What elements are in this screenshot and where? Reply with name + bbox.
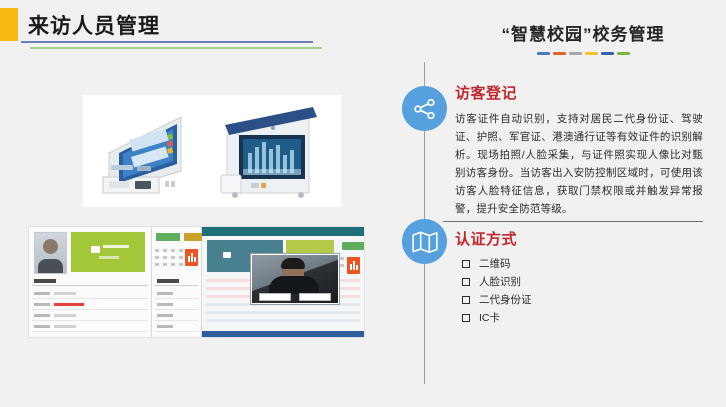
chart-icon (185, 249, 198, 266)
status-bar (202, 331, 364, 337)
list-item-label: 二维码 (479, 256, 511, 272)
screenshot-pane-mid (152, 227, 202, 337)
capture-sublabel (99, 256, 119, 259)
screenshot-pane-right (202, 227, 364, 337)
section-header (32, 277, 148, 286)
form-row (155, 311, 198, 321)
section-heading: 认证方式 (455, 228, 703, 249)
list-item: 人脸识别 (462, 274, 703, 290)
kiosk-photo (83, 95, 341, 207)
form-row (32, 289, 148, 299)
list-item-label: IC卡 (479, 310, 500, 326)
dash-navy (601, 52, 614, 55)
dash-row (440, 52, 726, 55)
capture-label (103, 245, 129, 248)
capture-panel (71, 232, 145, 272)
right-header-title: “智慧校园”校务管理 (440, 20, 726, 45)
dash-green (617, 52, 630, 55)
section-visitor-registration: 访客登记 访客证件自动识别，支持对居民二代身份证、驾驶证、护照、军官证、港澳通行… (455, 82, 703, 218)
title-underline-green (30, 47, 322, 49)
checkbox-square-icon (462, 260, 470, 268)
section-heading: 访客登记 (455, 82, 703, 103)
form-row (155, 322, 198, 332)
section-authentication-methods: 认证方式 二维码人脸识别二代身份证IC卡 (455, 228, 703, 328)
checkbox-square-icon (462, 314, 470, 322)
dialog-cancel-button[interactable] (299, 293, 331, 301)
dialog-confirm-button[interactable] (259, 293, 291, 301)
slide-title-block: 来访人员管理 (0, 8, 160, 41)
dash-yellow (585, 52, 598, 55)
calendar-grid (155, 249, 185, 267)
section-body: 访客证件自动识别，支持对居民二代身份证、驾驶证、护照、军官证、港澳通行证等有效证… (455, 110, 703, 218)
map-icon (402, 219, 447, 264)
confirm-button[interactable] (342, 242, 365, 250)
face-capture-dialog (250, 253, 340, 305)
camera-icon (91, 246, 100, 253)
kiosk-terminal-right-icon (213, 101, 331, 201)
title-underline-blue (21, 41, 313, 43)
share-nodes-icon (402, 86, 447, 131)
dash-gray (569, 52, 582, 55)
form-row (155, 289, 198, 299)
list-item-label: 人脸识别 (479, 274, 521, 290)
authentication-method-list: 二维码人脸识别二代身份证IC卡 (455, 256, 703, 326)
form-row (32, 300, 148, 310)
title-accent-bar (0, 8, 18, 41)
list-item: 二维码 (462, 256, 703, 272)
section-header (155, 277, 198, 286)
form-row (32, 322, 148, 332)
section-divider (443, 221, 703, 222)
page-title: 来访人员管理 (28, 10, 160, 40)
visitor-id-photo (34, 232, 67, 274)
app-title-bar (202, 227, 364, 236)
chart-icon (347, 257, 360, 274)
form-row (32, 311, 148, 321)
checkbox-square-icon (462, 296, 470, 304)
list-item: IC卡 (462, 310, 703, 326)
dash-blue (537, 52, 550, 55)
software-screenshot (28, 226, 365, 338)
form-row (155, 300, 198, 310)
confirm-button[interactable] (156, 233, 180, 241)
dash-orange (553, 52, 566, 55)
screenshot-pane-left (29, 227, 152, 337)
kiosk-terminal-left-icon (89, 101, 201, 201)
right-header: “智慧校园”校务管理 (440, 20, 726, 55)
camera-icon (223, 252, 231, 258)
checkbox-square-icon (462, 278, 470, 286)
list-item: 二代身份证 (462, 292, 703, 308)
list-item-label: 二代身份证 (479, 292, 532, 308)
